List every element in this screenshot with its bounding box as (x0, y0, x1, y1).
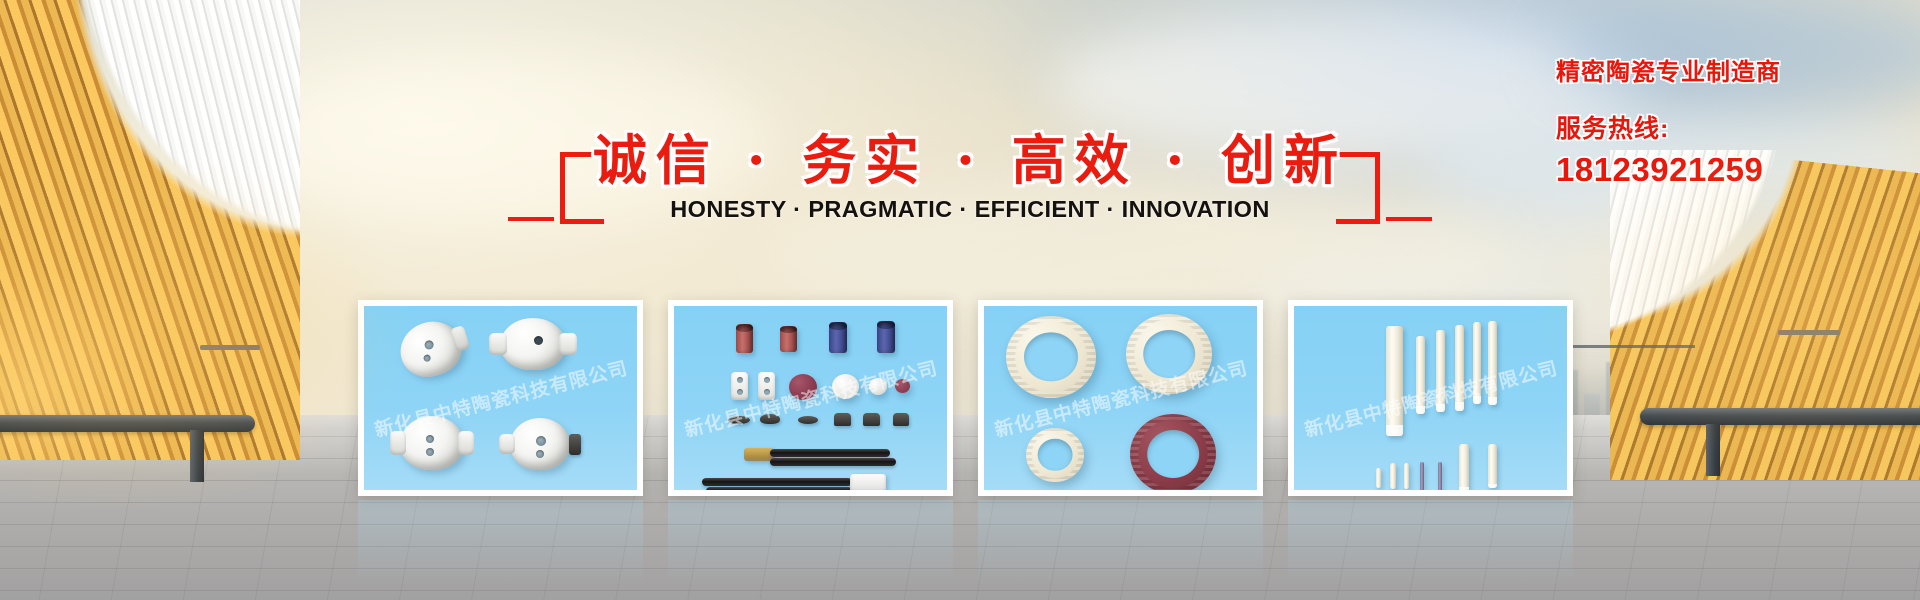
ceramic-rod (1488, 321, 1497, 405)
panel-canvas: 新化县中特陶瓷科技有限公司 (364, 306, 637, 490)
ceramic-ring (789, 374, 817, 400)
ceramic-ring-large (1126, 314, 1212, 394)
ceramic-ring-large (1006, 316, 1096, 398)
ceramic-tube (877, 321, 895, 353)
ceramic-ring (869, 378, 887, 395)
ceramic-rod (1455, 325, 1464, 411)
ceramic-ring-maroon (1130, 414, 1216, 490)
ceramic-rod (1416, 336, 1425, 414)
panel-watermark: 新化县中特陶瓷科技有限公司 (1301, 353, 1560, 442)
product-panel-group: 新化县中特陶瓷科技有限公司 (0, 0, 1920, 600)
lamp-holder-item (400, 416, 464, 470)
hero-banner: 诚信 · 务实 · 高效 · 创新 HONESTY · PRAGMATIC · … (0, 0, 1920, 600)
ceramic-tube (780, 326, 797, 352)
ceramic-rod-short (1376, 468, 1381, 488)
ceramic-clip (760, 414, 780, 424)
ceramic-rod-medium (1459, 444, 1469, 490)
panel-reflection (978, 500, 1263, 586)
ceramic-rod-violet (1438, 462, 1442, 490)
lamp-holder-item (510, 418, 570, 470)
ceramic-ring (895, 379, 910, 393)
panel-reflection (668, 500, 953, 586)
cable-connector (850, 474, 886, 490)
ceramic-plate (731, 372, 748, 400)
ceramic-plate (758, 372, 775, 400)
panel-reflection (1288, 500, 1573, 586)
cable-wire (770, 449, 890, 457)
ceramic-rod-violet (1420, 462, 1424, 490)
cable-wire (702, 478, 852, 486)
ceramic-rod (1386, 326, 1403, 436)
ceramic-ring-small (1026, 428, 1084, 482)
cable-wire (770, 458, 896, 466)
ceramic-rod (1436, 330, 1445, 412)
product-panel-lamp-holders[interactable]: 新化县中特陶瓷科技有限公司 (358, 300, 643, 496)
product-panel-components[interactable]: 新化县中特陶瓷科技有限公司 (668, 300, 953, 496)
cable-wire (706, 487, 852, 490)
ceramic-clip (728, 416, 750, 424)
ceramic-rod-short (1390, 463, 1396, 489)
panel-canvas: 新化县中特陶瓷科技有限公司 (674, 306, 947, 490)
panel-watermark: 新化县中特陶瓷科技有限公司 (681, 353, 940, 442)
panel-canvas: 新化县中特陶瓷科技有限公司 (1294, 306, 1567, 490)
lamp-holder-item (393, 314, 469, 385)
ceramic-clip (834, 413, 851, 426)
ceramic-rod (1473, 322, 1481, 404)
product-panel-rings[interactable]: 新化县中特陶瓷科技有限公司 (978, 300, 1263, 496)
ceramic-rod-medium (1488, 444, 1497, 488)
lamp-holder-item (500, 318, 566, 370)
ceramic-tube (829, 322, 847, 353)
panel-canvas: 新化县中特陶瓷科技有限公司 (984, 306, 1257, 490)
ceramic-clip (893, 413, 909, 426)
ceramic-rod-short (1404, 463, 1409, 489)
ceramic-tube (736, 324, 753, 353)
product-panel-rods[interactable]: 新化县中特陶瓷科技有限公司 (1288, 300, 1573, 496)
ceramic-ring (832, 374, 859, 399)
ceramic-clip (798, 416, 818, 424)
panel-reflection (358, 500, 643, 586)
ceramic-clip (863, 413, 880, 426)
